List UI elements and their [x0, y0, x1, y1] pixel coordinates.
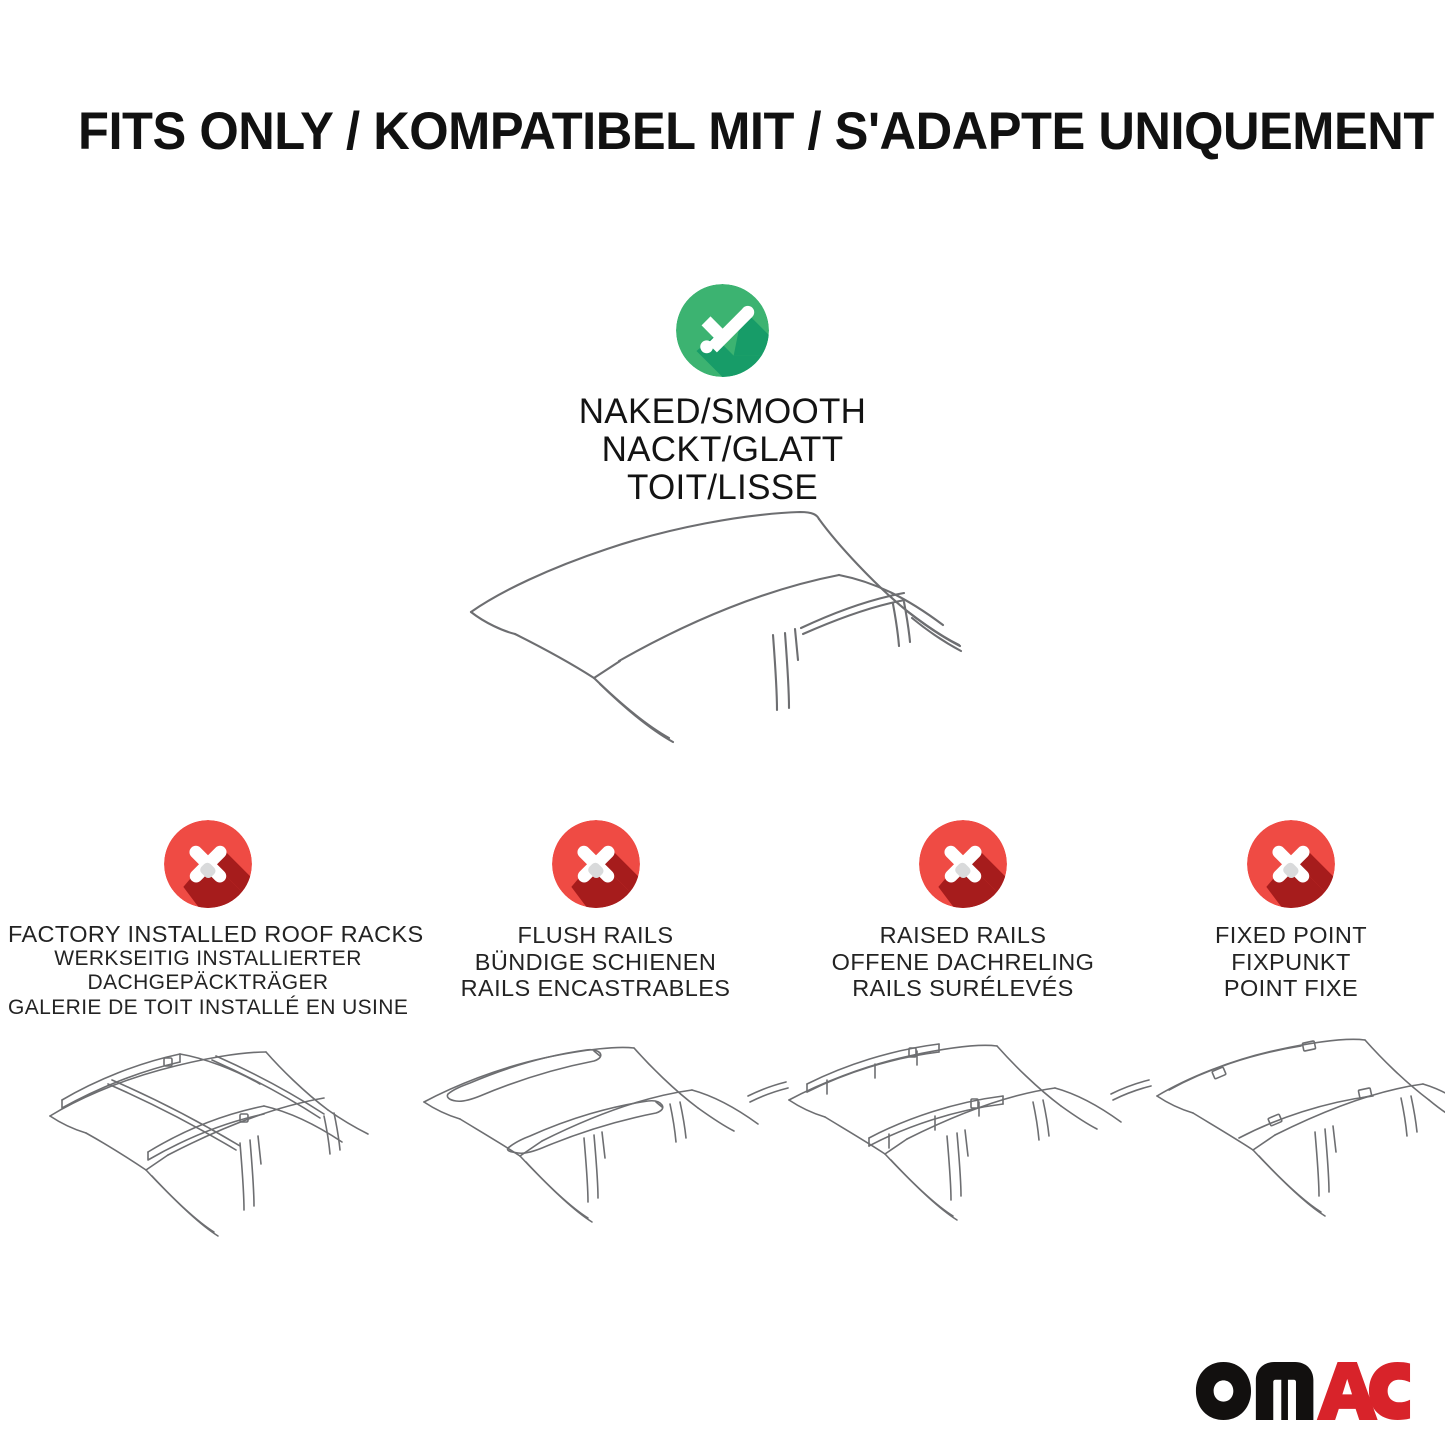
option-label-2-line-2: OFFENE DACHRELING [783, 949, 1143, 976]
option-label-3-line-2: FIXPUNKT [1143, 949, 1439, 976]
page-title: FITS ONLY / KOMPATIBEL MIT / S'ADAPTE UN… [78, 102, 1320, 162]
option-label-0: FACTORY INSTALLED ROOF RACKS WERKSEITIG … [8, 922, 408, 1020]
compatible-badge-wrap [0, 284, 1445, 377]
option-label-2-line-3: RAILS SURÉLEVÉS [783, 975, 1143, 1002]
option-label-1-line-2: BÜNDIGE SCHIENEN [408, 949, 783, 976]
compatible-section: NAKED/SMOOTH NACKT/GLATT TOIT/LISSE [0, 284, 1445, 507]
incompatible-section: FACTORY INSTALLED ROOF RACKS WERKSEITIG … [0, 820, 1445, 1260]
x-circle-icon [164, 820, 252, 908]
option-label-1: FLUSH RAILS BÜNDIGE SCHIENEN RAILS ENCAS… [408, 922, 783, 1002]
incompatible-badge-wrap-1 [408, 820, 783, 910]
raised-rails-illustration [783, 1038, 1155, 1268]
x-circle-icon [552, 820, 640, 908]
option-label-2: RAISED RAILS OFFENE DACHRELING RAILS SUR… [783, 922, 1143, 1002]
logo-letter-m [1256, 1362, 1314, 1420]
option-label-0-line-2: WERKSEITIG INSTALLIERTER [8, 947, 408, 972]
fixed-point-illustration [1143, 1034, 1445, 1264]
option-label-0-line-4: GALERIE DE TOIT INSTALLÉ EN USINE [8, 996, 408, 1021]
smooth-roof-illustration [455, 492, 1015, 752]
option-label-0-line-1: FACTORY INSTALLED ROOF RACKS [8, 922, 408, 947]
option-flush-rails: FLUSH RAILS BÜNDIGE SCHIENEN RAILS ENCAS… [408, 820, 783, 1002]
x-circle-icon [919, 820, 1007, 908]
option-label-0-line-3: DACHGEPÄCKTRÄGER [8, 971, 408, 996]
omac-logo [1194, 1358, 1422, 1420]
option-label-3: FIXED POINT FIXPUNKT POINT FIXE [1143, 922, 1439, 1002]
option-fixed-point: FIXED POINT FIXPUNKT POINT FIXE [1143, 820, 1439, 1002]
option-raised-rails: RAISED RAILS OFFENE DACHRELING RAILS SUR… [783, 820, 1143, 1002]
incompatible-badge-wrap-2 [783, 820, 1143, 910]
option-label-3-line-3: POINT FIXE [1143, 975, 1439, 1002]
compatible-label: NAKED/SMOOTH NACKT/GLATT TOIT/LISSE [0, 393, 1445, 507]
incompatible-badge-wrap-3 [1143, 820, 1439, 910]
logo-letter-o [1196, 1362, 1251, 1420]
option-label-2-line-1: RAISED RAILS [783, 922, 1143, 949]
compatible-label-line-2: NACKT/GLATT [0, 431, 1445, 469]
incompatible-badge-wrap-0 [8, 820, 408, 910]
x-circle-icon [1247, 820, 1335, 908]
flush-rails-illustration [418, 1038, 790, 1268]
check-circle-icon [676, 284, 769, 377]
factory-roof-rack-illustration [28, 1030, 400, 1260]
option-label-3-line-1: FIXED POINT [1143, 922, 1439, 949]
option-factory-roof-racks: FACTORY INSTALLED ROOF RACKS WERKSEITIG … [8, 820, 408, 1020]
logo-letter-c [1369, 1362, 1410, 1420]
option-label-1-line-3: RAILS ENCASTRABLES [408, 975, 783, 1002]
compatible-label-line-1: NAKED/SMOOTH [0, 393, 1445, 431]
option-label-1-line-1: FLUSH RAILS [408, 922, 783, 949]
logo-letter-a [1317, 1362, 1378, 1420]
